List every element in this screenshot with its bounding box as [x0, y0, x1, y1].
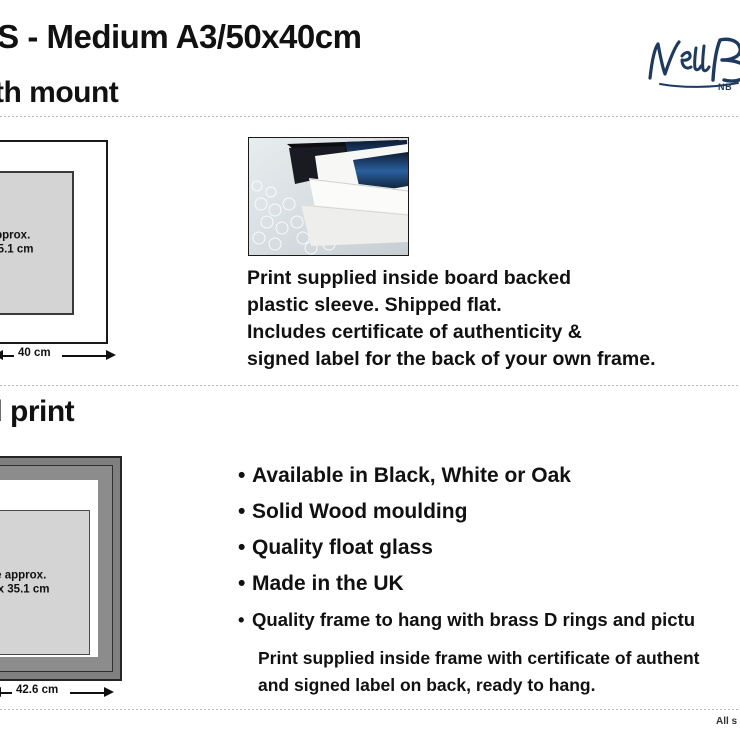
framed-description-line-1: Print supplied inside frame with certifi… [258, 645, 740, 672]
mount-diagram: age approx. 6.8 x 35.1 cm [0, 140, 108, 344]
divider-bottom [0, 709, 740, 710]
brand-signature-logo: NB [642, 26, 740, 104]
frame-image-size-label: age approx. 6.8 x 35.1 cm [0, 568, 89, 597]
divider-middle [0, 385, 740, 386]
dimension-arrow-right-icon [104, 687, 114, 697]
frame-width-dimension: 42.6 cm [0, 684, 124, 702]
brand-logo-subtext: NB [718, 82, 732, 92]
list-item-label: Quality frame to hang with brass D rings… [252, 609, 695, 630]
dimension-arrow-right-icon [106, 350, 116, 360]
mount-description-line-4: signed label for the back of your own fr… [247, 346, 740, 373]
mount-size-line1: age approx. [0, 230, 30, 242]
frame-size-line1: age approx. [0, 569, 46, 581]
footer-note: All s [716, 716, 737, 727]
dimension-line-left [0, 355, 14, 357]
mount-description: Print supplied inside board backed plast… [247, 265, 740, 373]
framed-description-line-2: and signed label on back, ready to hang. [258, 672, 740, 699]
list-item-label: Solid Wood moulding [252, 500, 467, 523]
mount-image-size-label: age approx. 6.8 x 35.1 cm [0, 229, 72, 258]
bullet-dot-icon: • [238, 494, 252, 530]
frame-mount-area: age approx. 6.8 x 35.1 cm [0, 480, 98, 657]
bullet-dot-icon: • [238, 530, 252, 566]
framed-print-diagram: age approx. 6.8 x 35.1 cm [0, 456, 122, 681]
page-title: IONS - Medium A3/50x40cm [0, 18, 361, 56]
divider-top [0, 116, 740, 117]
list-item-label: Made in the UK [252, 572, 404, 595]
list-item-label: Quality float glass [252, 536, 433, 559]
mount-description-line-1: Print supplied inside board backed [247, 265, 740, 292]
bullet-dot-icon: • [238, 566, 252, 602]
frame-image-area: age approx. 6.8 x 35.1 cm [0, 510, 90, 655]
bullet-dot-icon: • [238, 458, 252, 494]
list-item: •Solid Wood moulding [238, 494, 740, 530]
mounted-print-photo [248, 137, 409, 256]
framed-print-description: Print supplied inside frame with certifi… [258, 645, 740, 699]
photo-image [249, 138, 408, 255]
mount-image-area: age approx. 6.8 x 35.1 cm [0, 171, 74, 315]
list-item: •Quality frame to hang with brass D ring… [238, 602, 740, 638]
list-item: •Quality float glass [238, 530, 740, 566]
framed-print-feature-list: •Available in Black, White or Oak •Solid… [238, 458, 740, 638]
mount-size-line2: 6.8 x 35.1 cm [0, 244, 33, 256]
section-heading-framed-print: med print [0, 395, 74, 429]
section-heading-print-with-mount: t with mount [0, 76, 118, 110]
dimension-line-left [0, 692, 12, 694]
frame-size-line2: 6.8 x 35.1 cm [0, 584, 49, 596]
dimension-line-right [62, 355, 110, 357]
frame-width-value: 42.6 cm [16, 684, 58, 696]
list-item: •Available in Black, White or Oak [238, 458, 740, 494]
bullet-dot-icon: • [238, 602, 252, 638]
mount-description-line-2: plastic sleeve. Shipped flat. [247, 292, 740, 319]
frame-bevel: age approx. 6.8 x 35.1 cm [0, 465, 113, 672]
mount-description-line-3: Includes certificate of authenticity & [247, 319, 740, 346]
mount-width-value: 40 cm [18, 347, 51, 359]
list-item: •Made in the UK [238, 566, 740, 602]
list-item-label: Available in Black, White or Oak [252, 464, 571, 487]
spec-sheet-page: IONS - Medium A3/50x40cm t with mount NB… [0, 0, 740, 736]
mount-width-dimension: 40 cm [0, 347, 126, 365]
dimension-line-right [70, 692, 108, 694]
